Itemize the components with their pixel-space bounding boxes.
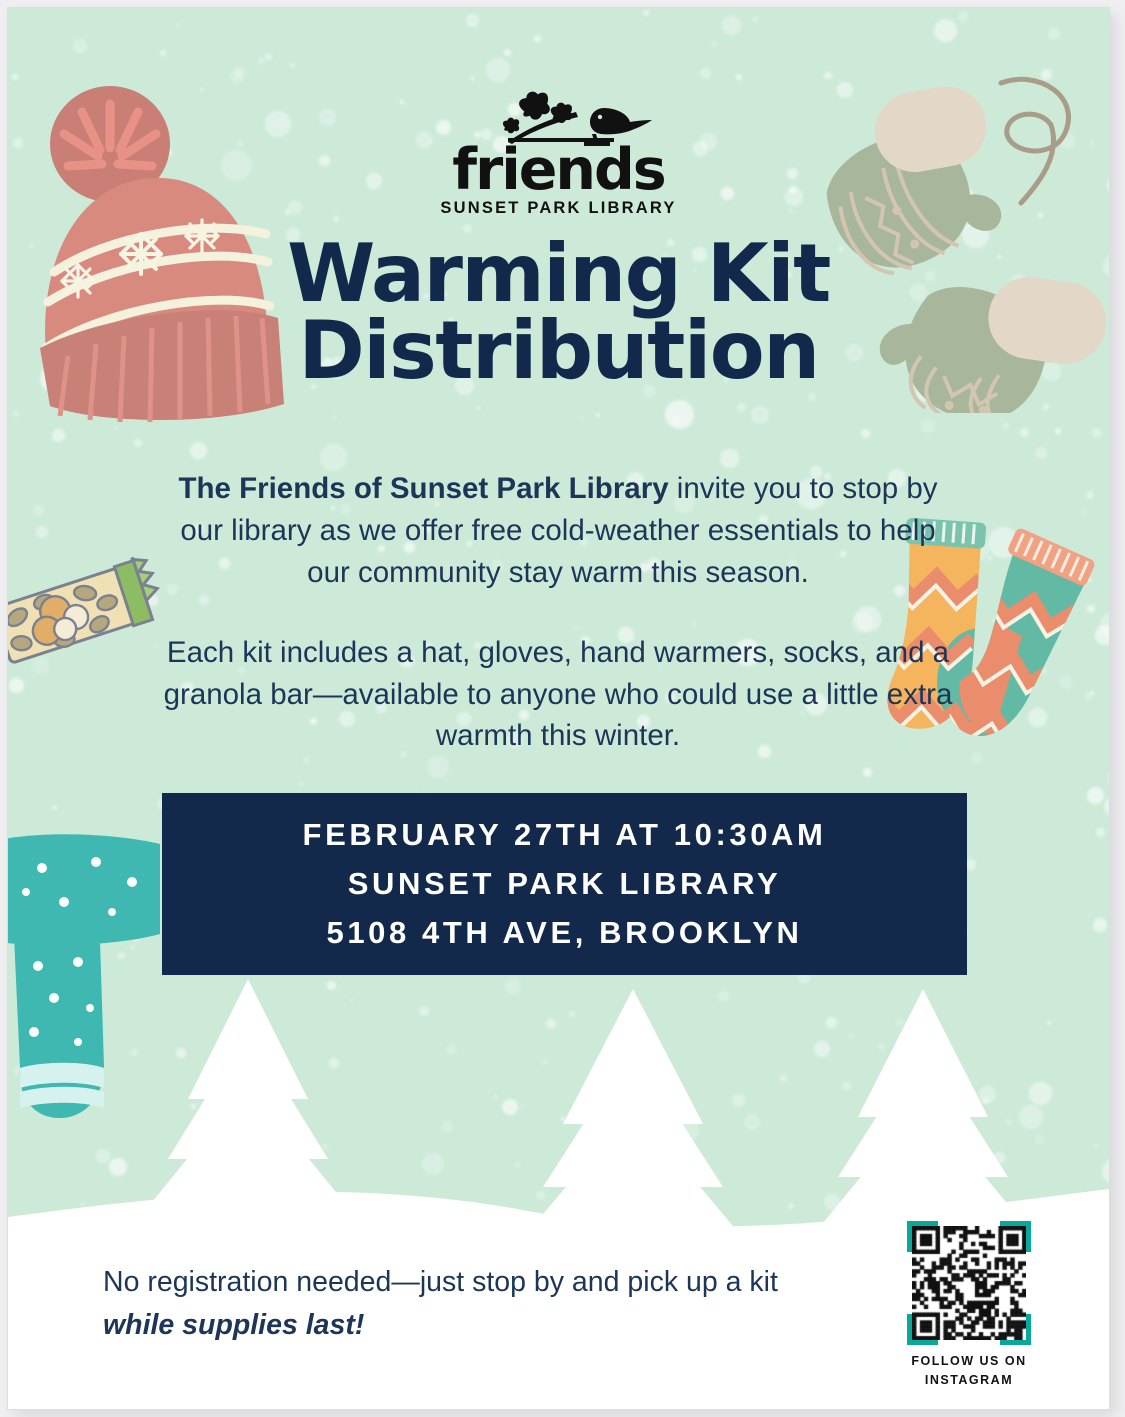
poster-page: friends SUNSET PARK LIBRARY Warming Kit …: [0, 0, 1125, 1417]
event-venue: SUNSET PARK LIBRARY: [348, 866, 782, 902]
logo-subtitle: SUNSET PARK LIBRARY: [8, 199, 1109, 218]
paragraph-1: The Friends of Sunset Park Library invit…: [158, 468, 958, 594]
logo-wordmark: friends: [8, 144, 1109, 196]
qr-label-line-2: INSTAGRAM: [906, 1371, 1032, 1390]
page-title: Warming Kit Distribution: [8, 236, 1109, 390]
qr-label: FOLLOW US ON INSTAGRAM: [906, 1352, 1032, 1390]
event-datetime: FEBRUARY 27TH AT 10:30AM: [303, 817, 827, 853]
registration-note-line-1: No registration needed—just stop by and …: [103, 1266, 778, 1298]
poster-canvas: friends SUNSET PARK LIBRARY Warming Kit …: [8, 8, 1109, 1409]
event-address: 5108 4TH AVE, BROOKLYN: [326, 915, 802, 951]
qr-code[interactable]: [912, 1226, 1026, 1340]
headline-line-2: Distribution: [8, 313, 1109, 390]
friends-logo: friends SUNSET PARK LIBRARY: [8, 90, 1109, 218]
paragraph-1-bold: The Friends of Sunset Park Library: [178, 472, 668, 505]
instagram-qr-block[interactable]: FOLLOW US ON INSTAGRAM: [906, 1226, 1032, 1390]
paragraph-2: Each kit includes a hat, gloves, hand wa…: [158, 632, 958, 758]
qr-bracket-top-right: [1000, 1221, 1031, 1252]
scarf-illustration: [8, 826, 168, 1116]
registration-note-emphasis: while supplies last!: [103, 1306, 833, 1345]
body-copy: The Friends of Sunset Park Library invit…: [158, 468, 958, 795]
qr-bracket-bottom-right: [1000, 1314, 1031, 1345]
registration-note: No registration needed—just stop by and …: [103, 1263, 833, 1346]
qr-bracket-top-left: [907, 1221, 938, 1252]
event-details-box: FEBRUARY 27TH AT 10:30AM SUNSET PARK LIB…: [162, 793, 967, 975]
qr-label-line-1: FOLLOW US ON: [906, 1352, 1032, 1371]
headline-line-1: Warming Kit: [8, 236, 1109, 313]
qr-bracket-bottom-left: [907, 1314, 938, 1345]
